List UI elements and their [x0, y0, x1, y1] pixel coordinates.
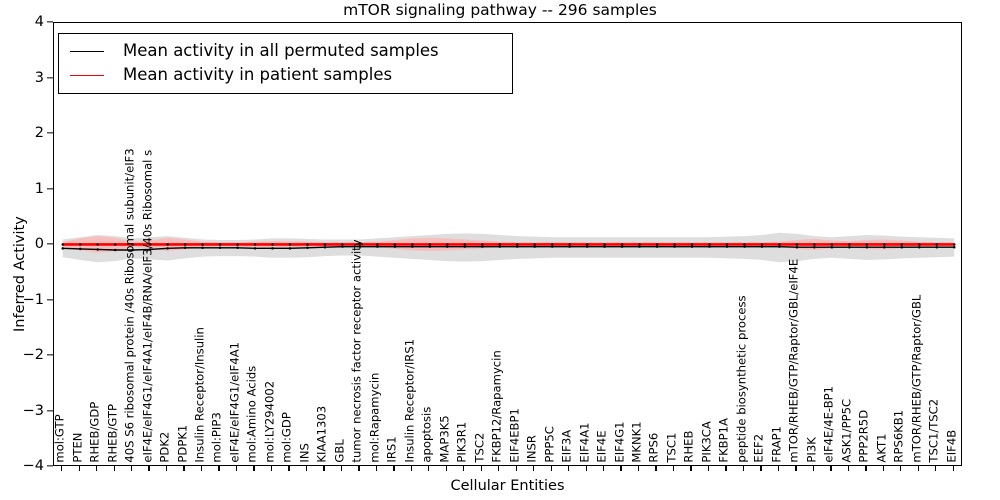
x-tick-label-text: PDK2 — [159, 432, 171, 463]
x-tick-mark — [306, 466, 307, 471]
x-tick-mark — [376, 466, 377, 471]
x-tick-mark — [725, 466, 726, 471]
chart-legend: Mean activity in all permuted samples Me… — [58, 33, 513, 94]
x-tick-label-text: mol:PIP3 — [212, 413, 224, 463]
x-tick-mark — [603, 466, 604, 471]
x-tick-label-text: EIF4G1 — [614, 422, 626, 463]
x-tick-mark — [446, 466, 447, 471]
x-tick-mark — [201, 466, 202, 471]
x-tick-mark — [900, 466, 901, 471]
chart-root: mTOR signaling pathway -- 296 samples −4… — [0, 0, 1000, 500]
x-tick-label-text: eIF4E/4E-BP1 — [824, 386, 836, 463]
x-tick-label-text: Insulin Receptor/IRS1 — [404, 339, 416, 463]
x-tick-mark — [271, 466, 272, 471]
x-tick-mark — [61, 466, 62, 471]
x-tick-mark — [341, 466, 342, 471]
x-tick-label-text: MAP3K5 — [439, 416, 451, 463]
x-tick-label-text: MKNK1 — [631, 422, 643, 463]
x-tick-label-text: apoptosis — [422, 407, 434, 463]
legend-item-patient: Mean activity in patient samples — [67, 63, 504, 87]
x-tick-label-text: EEF2 — [754, 434, 766, 463]
x-tick-label-text: peptide biosynthetic process — [736, 296, 748, 463]
x-tick-label-text: RPS6 — [649, 433, 661, 463]
x-tick-mark — [323, 466, 324, 471]
x-tick-mark — [358, 466, 359, 471]
x-tick-mark — [218, 466, 219, 471]
x-tick-label-text: EIF4B — [946, 430, 958, 463]
y-axis-label: Inferred Activity — [12, 216, 28, 332]
x-tick-label-text: Insulin Receptor/Insulin — [194, 328, 206, 463]
x-tick-mark — [114, 466, 115, 471]
x-tick-label-text: PIK3CA — [701, 422, 713, 463]
x-tick-mark — [620, 466, 621, 471]
x-tick-mark — [778, 466, 779, 471]
x-tick-mark — [463, 466, 464, 471]
x-tick-mark — [568, 466, 569, 471]
x-tick-label-text: TSC1/TSC2 — [929, 399, 941, 463]
x-tick-mark — [830, 466, 831, 471]
x-tick-mark — [848, 466, 849, 471]
x-tick-mark — [393, 466, 394, 471]
x-tick-mark — [481, 466, 482, 471]
x-tick-mark — [690, 466, 691, 471]
x-tick-mark — [516, 466, 517, 471]
x-tick-mark — [183, 466, 184, 471]
x-tick-mark — [498, 466, 499, 471]
x-tick-label-text: FRAP1 — [771, 426, 783, 463]
x-tick-label-text: tumor necrosis factor receptor activity — [352, 240, 364, 463]
x-tick-label-text: FKBP12/Rapamycin — [492, 351, 504, 463]
legend-item-permuted: Mean activity in all permuted samples — [67, 39, 504, 63]
x-tick-label-text: mol:LY294002 — [264, 381, 276, 463]
x-tick-label-text: PPP2R5D — [859, 410, 871, 463]
legend-label-patient: Mean activity in patient samples — [123, 67, 392, 84]
x-tick-label-text: INSR — [527, 435, 539, 463]
x-tick-label-text: INS — [299, 444, 311, 463]
x-tick-label-text: GBL — [334, 440, 346, 463]
x-tick-mark — [638, 466, 639, 471]
x-tick-label-text: eIF4E/eIF4G1/eIF4A1 — [229, 342, 241, 463]
x-tick-label-text: EIF4E — [596, 431, 608, 463]
x-tick-label-text: mol:Amino Acids — [247, 366, 259, 463]
x-tick-label-text: PIK3R1 — [457, 422, 469, 463]
x-tick-mark — [760, 466, 761, 471]
x-tick-label-text: 40S S6 ribosomal protein /40s Ribosomal … — [124, 149, 136, 463]
x-tick-mark — [253, 466, 254, 471]
x-tick-mark — [918, 466, 919, 471]
x-tick-label-text: TSC1 — [666, 433, 678, 463]
x-tick-mark — [953, 466, 954, 471]
x-tick-mark — [79, 466, 80, 471]
x-tick-label-text: KIAA1303 — [317, 406, 329, 463]
x-tick-mark — [673, 466, 674, 471]
x-tick-mark — [96, 466, 97, 471]
x-tick-mark — [411, 466, 412, 471]
x-tick-mark — [743, 466, 744, 471]
x-tick-label-text: EIF4EBP1 — [509, 409, 521, 463]
x-axis-label: Cellular Entities — [53, 478, 962, 494]
x-tick-mark — [586, 466, 587, 471]
x-tick-mark — [865, 466, 866, 471]
x-tick-mark — [236, 466, 237, 471]
x-tick-label-text: TSC2 — [474, 433, 486, 463]
x-tick-label-text: PPP5C — [544, 427, 556, 463]
x-tick-mark — [551, 466, 552, 471]
legend-swatch-permuted — [70, 51, 104, 52]
x-tick-mark — [288, 466, 289, 471]
x-tick-label-text: eIF4E/eIF4G1/eIF4A1/eIF4B/RNA/eIF3/40s R… — [142, 150, 154, 463]
x-tick-mark — [166, 466, 167, 471]
x-tick-mark — [131, 466, 132, 471]
x-tick-label-text: ASK1/PP5C — [841, 399, 853, 463]
x-tick-label-text: RHEB/GTP — [107, 404, 119, 463]
legend-swatch-patient — [70, 75, 104, 76]
x-tick-mark — [883, 466, 884, 471]
x-tick-label-text: IRS1 — [387, 437, 399, 463]
x-tick-label-text: AKT1 — [876, 434, 888, 463]
x-tick-label-text: mol:Rapamycin — [369, 373, 381, 463]
x-tick-mark — [148, 466, 149, 471]
x-tick-mark — [533, 466, 534, 471]
x-tick-mark — [428, 466, 429, 471]
x-tick-label-text: RHEB/GDP — [90, 402, 102, 463]
x-tick-mark — [708, 466, 709, 471]
x-tick-label-text: mTOR/RHEB/GTP/Raptor/GBL — [911, 295, 923, 463]
x-tick-label-text: EIF4A1 — [579, 423, 591, 463]
x-tick-label-text: FKBP1A — [719, 418, 731, 463]
x-tick-label-text: PTEN — [72, 433, 84, 463]
x-tick-label-text: RPS6KB1 — [894, 410, 906, 463]
legend-label-permuted: Mean activity in all permuted samples — [123, 43, 439, 60]
x-tick-label-text: PDPK1 — [177, 425, 189, 463]
x-tick-label-text: RHEB — [684, 431, 696, 463]
x-tick-mark — [655, 466, 656, 471]
x-tick-label-text: mTOR/RHEB/GTP/Raptor/GBL/eIF4E — [789, 259, 801, 463]
x-tick-label-text: mol:GDP — [282, 413, 294, 463]
x-tick-label-text: mol:GTP — [55, 415, 67, 463]
x-tick-label-text: PI3K — [806, 438, 818, 463]
x-tick-mark — [813, 466, 814, 471]
x-tick-label-text: EIF3A — [561, 430, 573, 463]
x-tick-mark — [795, 466, 796, 471]
x-tick-mark — [935, 466, 936, 471]
